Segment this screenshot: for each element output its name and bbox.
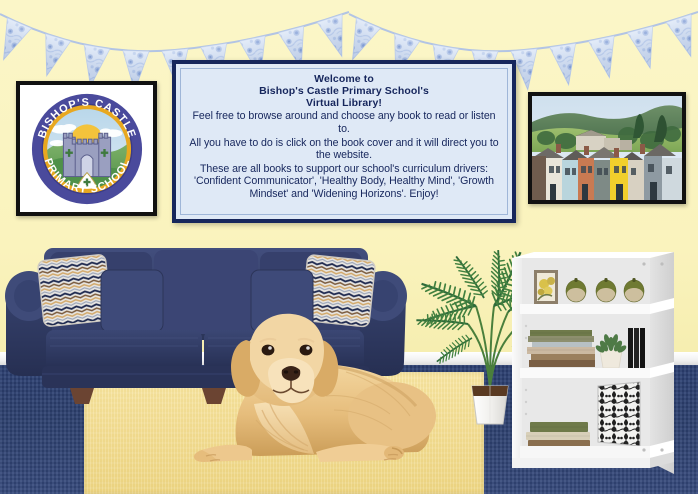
black-books bbox=[628, 328, 645, 368]
damask-box bbox=[598, 382, 640, 446]
welcome-panel-inner: Welcome to Bishop's Castle Primary Schoo… bbox=[180, 68, 508, 215]
book-stack-shelf2 bbox=[527, 330, 595, 367]
golden-retriever-dog bbox=[196, 300, 486, 494]
school-logo-inner: BISHOP'S CASTLE PRIMARY SCHOOL bbox=[20, 85, 153, 212]
library-scene: BISHOP'S CASTLE PRIMARY SCHOOL bbox=[0, 0, 698, 494]
white-bookcase bbox=[512, 250, 690, 482]
bunting-flag-shading bbox=[666, 14, 698, 60]
town-photo-frame bbox=[528, 92, 686, 204]
bunting-flag-shading bbox=[317, 14, 354, 60]
welcome-heading-line-3: Virtual Library! bbox=[306, 97, 382, 109]
book-stack-shelf3 bbox=[526, 422, 590, 447]
bunting-flag-shading bbox=[0, 18, 31, 65]
welcome-body-3: These are all books to support our schoo… bbox=[188, 163, 500, 201]
welcome-panel: Welcome to Bishop's Castle Primary Schoo… bbox=[172, 60, 516, 223]
school-crest: BISHOP'S CASTLE PRIMARY SCHOOL bbox=[28, 90, 146, 208]
welcome-heading-line-2: Bishop's Castle Primary School's bbox=[259, 85, 429, 97]
town-photo bbox=[532, 96, 682, 200]
school-logo-frame: BISHOP'S CASTLE PRIMARY SCHOOL bbox=[16, 81, 157, 216]
welcome-body-1: Feel free to browse around and choose an… bbox=[188, 110, 500, 135]
welcome-heading: Welcome to Bishop's Castle Primary Schoo… bbox=[188, 74, 500, 109]
welcome-heading-line-1: Welcome to bbox=[314, 73, 374, 85]
framed-flowers bbox=[534, 270, 558, 304]
decorative-jars bbox=[566, 278, 644, 304]
bunting-flag-shading bbox=[627, 26, 662, 71]
welcome-body-2: All you have to do is click on the book … bbox=[188, 137, 500, 162]
